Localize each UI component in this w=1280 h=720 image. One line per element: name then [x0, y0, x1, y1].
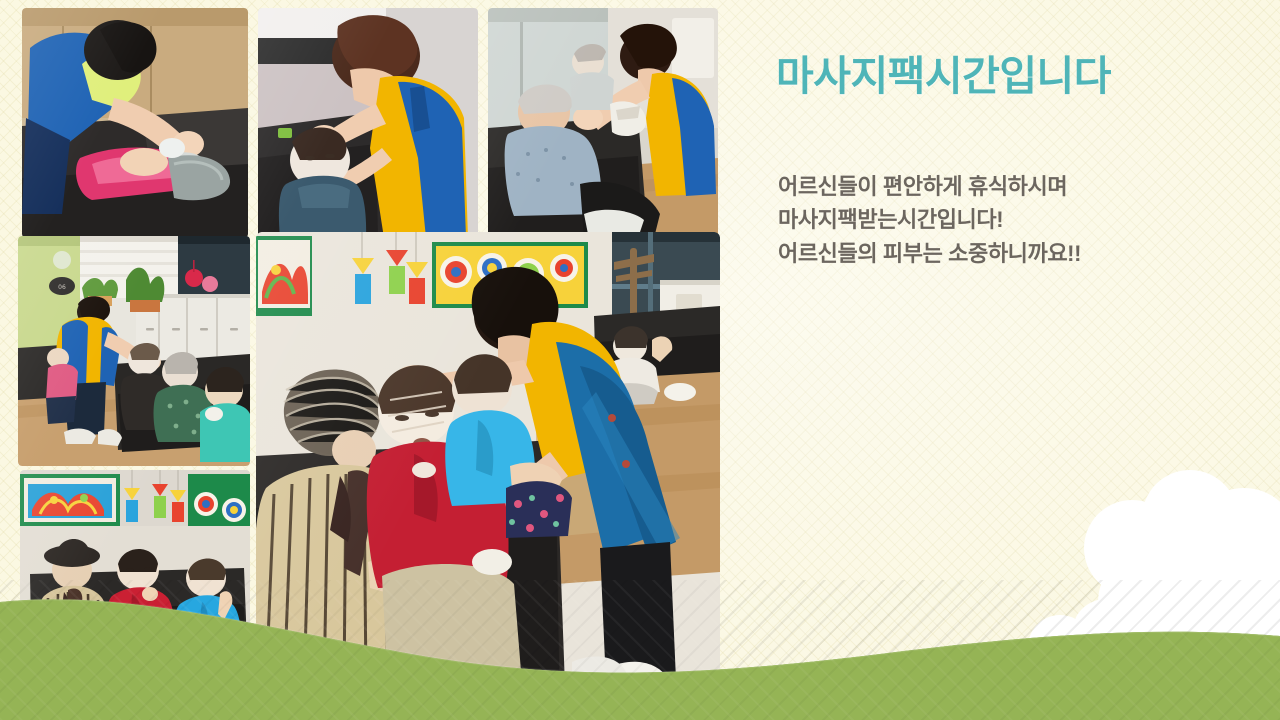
- photo-caregiver-mask-elderly-man-sofa: [488, 8, 718, 238]
- slide-body-text: 어르신들이 편안하게 휴식하시며 마사지팩받는시간입니다! 어르신들의 피부는 …: [778, 170, 1081, 270]
- photo-caregiver-applying-mask-reclining-woman: [22, 8, 248, 238]
- green-wave-overlay: [0, 580, 1280, 720]
- photo-caregiver-facial-massage-seated-woman: [258, 8, 478, 238]
- slide-root: 06: [0, 0, 1280, 720]
- body-line-2: 마사지팩받는시간입니다!: [778, 203, 1081, 236]
- slide-title: 마사지팩시간입니다: [776, 52, 1111, 100]
- body-line-3: 어르신들의 피부는 소중하니까요!!: [778, 237, 1081, 270]
- body-line-1: 어르신들이 편안하게 휴식하시며: [778, 170, 1081, 203]
- photo-dayroom-group-massage-session: 06: [18, 236, 250, 466]
- svg-text:06: 06: [58, 284, 66, 291]
